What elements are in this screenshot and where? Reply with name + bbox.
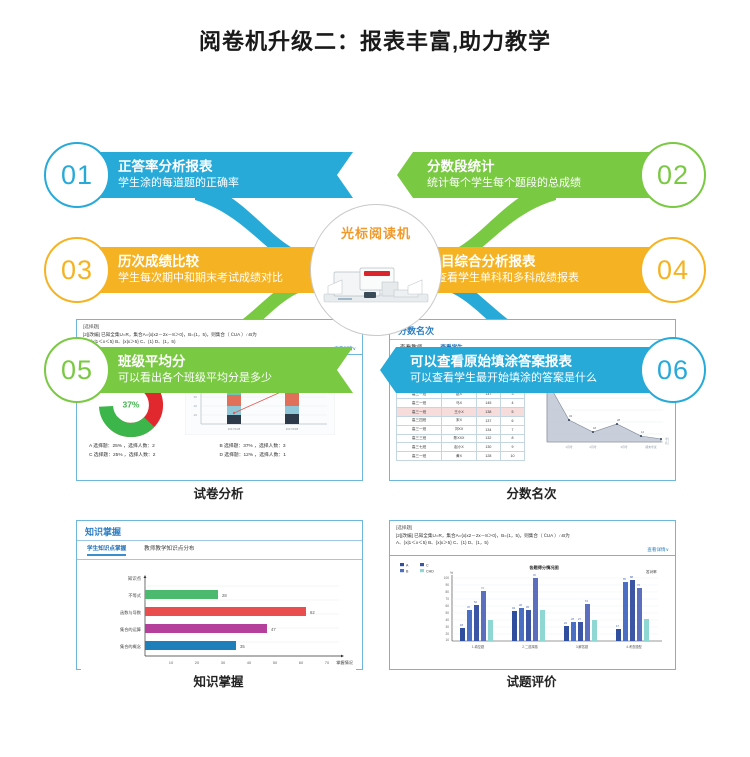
- svg-text:28: 28: [222, 593, 227, 598]
- svg-text:17: 17: [616, 624, 619, 628]
- svg-text:2月考: 2月考: [589, 445, 596, 449]
- svg-text:名次: 名次: [665, 441, 669, 445]
- table-cell: 8: [500, 434, 524, 443]
- table-cell: 130: [476, 443, 500, 452]
- option-stat-a: A 选择题：25% ，选择人数：2: [89, 443, 220, 452]
- chart-legend: A B C CHD: [400, 563, 434, 573]
- table-cell: 9: [500, 443, 524, 452]
- table-cell: 赵小X: [442, 443, 477, 452]
- panel-title-score-rank: 分数名次: [390, 320, 675, 340]
- svg-text:4.考查题型: 4.考查题型: [626, 644, 642, 649]
- question-box-2: [选择题] [2][改编] 已知全集U=R，集合A={x|x2－2x－8＞0}，…: [390, 521, 675, 556]
- svg-text:20: 20: [194, 413, 198, 417]
- table-cell: 高三一班: [397, 408, 442, 417]
- svg-text:18: 18: [460, 623, 463, 627]
- shot-item-eval[interactable]: [选择题] [2][改编] 已知全集U=R，集合A={x|x2－2x－8＞0}，…: [389, 520, 676, 670]
- table-cell: 137: [476, 416, 500, 425]
- table-cell: 132: [476, 434, 500, 443]
- table-cell: 马X: [442, 399, 477, 408]
- svg-text:1月考: 1月考: [565, 445, 572, 449]
- feature-number-03: 03: [44, 237, 110, 303]
- table-cell: 6: [500, 416, 524, 425]
- table-row[interactable]: 高三一班黄X12810: [397, 452, 525, 461]
- feature-sub-02: 统计每个学生每个题段的总成绩: [427, 176, 581, 190]
- feature-number-02: 02: [640, 142, 706, 208]
- shot-exam-analysis[interactable]: [选择题] [2][改编] 已知全集U=R，集合A={x|x2－2x－8＞0}，…: [76, 319, 363, 481]
- feature-sub-03: 学生每次期中和期末考试成绩对比: [118, 271, 336, 285]
- shot-knowledge[interactable]: 知识掌握 学生知识点掌握 教师教学知识点分布 知识点 28: [76, 520, 363, 670]
- table-cell: 高三三班: [397, 434, 442, 443]
- table-cell: 128: [476, 452, 500, 461]
- svg-text:C: C: [426, 564, 429, 568]
- svg-text:60: 60: [299, 660, 304, 665]
- table-cell: 刘XX: [442, 425, 477, 434]
- feature-diagram: 01 正答率分析报表 学生涂的每道题的正确率 02 分数段统计 统计每个学生每个…: [0, 56, 750, 331]
- question-line-2: A、{x|1＜x＜5} B、{x|x＞5} C、(1) D、(1，5): [83, 338, 356, 345]
- svg-text:期末考试: 期末考试: [645, 445, 656, 449]
- option-stat-d: D 选择题：12% ，选择人数：1: [220, 452, 351, 461]
- tab-student-knowledge[interactable]: 学生知识点掌握: [87, 544, 126, 556]
- feature-item-06[interactable]: 06 可以查看原始填涂答案报表 可以查看学生最开始填涂的答案是什么: [380, 339, 706, 401]
- option-stat-c: C 选择题：25% ，选择人数：2: [89, 452, 220, 461]
- table-cell: 10: [500, 452, 524, 461]
- donut-center-label: 37%: [123, 399, 140, 409]
- svg-text:100: 100: [444, 576, 450, 580]
- svg-text:40: 40: [194, 404, 198, 408]
- svg-text:函数与导数: 函数与导数: [120, 609, 142, 616]
- feature-number-05: 05: [44, 337, 110, 403]
- svg-text:72: 72: [481, 586, 484, 590]
- option-stat-b: B 选择题：37% ，选择人数：3: [220, 443, 351, 452]
- table-cell: 145: [476, 399, 500, 408]
- item-eval-bar-chart: A B C CHD 各题得分情况图 答对率 %: [390, 556, 675, 663]
- svg-text:60: 60: [194, 395, 198, 399]
- table-row[interactable]: 高三一班马X1454: [397, 399, 525, 408]
- feature-banner-01: 正答率分析报表 学生涂的每道题的正确率: [100, 152, 353, 198]
- option-stats: A 选择题：25% ，选择人数：2 B 选择题：37% ，选择人数：3 C 选择…: [77, 440, 362, 460]
- question-line-2-b: A、{x|1＜x＜5} B、{x|x＞5} C、(1) D、(1，5): [396, 539, 669, 546]
- svg-text:30: 30: [221, 660, 226, 665]
- svg-text:43: 43: [512, 606, 515, 610]
- question-line-1-b: [2][改编] 已知全集U=R，集合A={x|x2－2x－8＞0}，B=(1，5…: [396, 532, 669, 539]
- svg-text:85: 85: [623, 577, 626, 581]
- knowledge-bar-chart: 知识点 28 62 47 35 不: [77, 560, 362, 681]
- svg-text:88: 88: [630, 575, 633, 579]
- table-cell: 高三一班: [397, 399, 442, 408]
- center-label: 光标阅读机: [341, 223, 411, 242]
- knowledge-tabs: 学生知识点掌握 教师教学知识点分布: [77, 541, 362, 560]
- svg-text:47: 47: [271, 627, 276, 632]
- caption-score-rank: 分数名次: [389, 483, 674, 502]
- svg-text:%: %: [450, 571, 453, 575]
- svg-text:62: 62: [310, 610, 315, 615]
- svg-text:48: 48: [519, 603, 522, 607]
- svg-text:18: 18: [593, 426, 597, 430]
- svg-text:20: 20: [195, 660, 200, 665]
- feature-title-02: 分数段统计: [427, 159, 495, 176]
- scanner-machine-icon: [320, 256, 432, 308]
- knowledge-ylabel: 知识点: [128, 575, 142, 582]
- feature-banner-02: 分数段统计 统计每个学生每个题段的总成绩: [397, 152, 650, 198]
- svg-text:50: 50: [445, 611, 449, 615]
- table-row[interactable]: 高三一班王小X1385: [397, 408, 525, 417]
- svg-text:70: 70: [445, 597, 449, 601]
- svg-text:12: 12: [641, 430, 645, 434]
- svg-text:90: 90: [533, 573, 536, 577]
- table-cell: 陈XXX: [442, 434, 477, 443]
- svg-text:1.填空题: 1.填空题: [472, 644, 485, 649]
- table-cell: 高三一班: [397, 452, 442, 461]
- shot-score-rank[interactable]: 分数名次 查看教师 查看学生 班级 姓名 分数 名次 高三二班张XX1501高三…: [389, 319, 676, 481]
- svg-text:35: 35: [240, 644, 245, 649]
- svg-text:10: 10: [445, 638, 449, 642]
- svg-text:45: 45: [467, 605, 470, 609]
- svg-text:90: 90: [445, 583, 449, 587]
- feature-title-03: 历次成绩比较: [118, 254, 336, 271]
- svg-text:34: 34: [569, 414, 573, 418]
- caption-exam-analysis: 试卷分析: [76, 483, 361, 502]
- svg-text:53: 53: [585, 599, 588, 603]
- table-row[interactable]: 高三一班刘XX1347: [397, 425, 525, 434]
- caption-item-eval: 试题评价: [389, 671, 674, 690]
- table-row[interactable]: 高三四班宋X1376: [397, 416, 525, 425]
- page-title: 阅卷机升级二：报表丰富,助力教学: [0, 0, 750, 56]
- svg-text:52: 52: [474, 600, 477, 604]
- feature-banner-06: 可以查看原始填涂答案报表 可以查看学生最开始填涂的答案是什么: [380, 347, 650, 393]
- feature-banner-05: 班级平均分 可以看出各个班级平均分是多少: [100, 347, 353, 393]
- table-cell: 高三四班: [397, 416, 442, 425]
- view-detail-link-2[interactable]: 查看详情∨: [396, 546, 669, 553]
- table-cell: 5: [500, 408, 524, 417]
- svg-text:集合的运算: 集合的运算: [120, 626, 141, 633]
- svg-text:2017/03/8: 2017/03/8: [286, 427, 299, 431]
- svg-text:集合的概念: 集合的概念: [120, 643, 142, 650]
- svg-text:CHD: CHD: [426, 570, 434, 574]
- feature-sub-01: 学生涂的每道题的正确率: [118, 176, 323, 190]
- svg-text:28: 28: [617, 418, 621, 422]
- svg-text:2017/01/8: 2017/01/8: [228, 427, 241, 431]
- item-eval-title: 各题得分情况图: [528, 564, 558, 571]
- svg-text:27: 27: [578, 617, 581, 621]
- feature-item-05[interactable]: 05 班级平均分 可以看出各个班级平均分是多少: [44, 339, 353, 401]
- question-line-1: [2][改编] 已知全集U=R，集合A={x|x2－2x－8＞0}，B=(1，5…: [83, 331, 356, 338]
- feature-title-01: 正答率分析报表: [118, 159, 323, 176]
- svg-text:70: 70: [325, 660, 330, 665]
- svg-text:3.解答题: 3.解答题: [576, 644, 589, 649]
- svg-text:A: A: [406, 564, 409, 568]
- table-cell: 4: [500, 399, 524, 408]
- feature-title-06: 可以查看原始填涂答案报表: [410, 354, 572, 371]
- question-tag-2: [选择题]: [396, 525, 669, 532]
- item-eval-note: 答对率: [646, 569, 657, 574]
- svg-text:40: 40: [247, 660, 252, 665]
- svg-text:60: 60: [445, 604, 449, 608]
- table-cell: 7: [500, 425, 524, 434]
- svg-text:80: 80: [445, 590, 449, 594]
- table-cell: 宋X: [442, 416, 477, 425]
- table-cell: 黄X: [442, 452, 477, 461]
- svg-text:45: 45: [526, 605, 529, 609]
- svg-text:30: 30: [445, 625, 449, 629]
- svg-text:50: 50: [273, 660, 278, 665]
- feature-number-01: 01: [44, 142, 110, 208]
- feature-number-04: 04: [640, 237, 706, 303]
- svg-text:28: 28: [571, 617, 574, 621]
- table-cell: 138: [476, 408, 500, 417]
- svg-text:3月考: 3月考: [620, 445, 627, 449]
- center-node: 光标阅读机: [310, 204, 442, 336]
- table-cell: 134: [476, 425, 500, 434]
- svg-text:22: 22: [564, 621, 567, 625]
- feature-item-01[interactable]: 01 正答率分析报表 学生涂的每道题的正确率: [44, 144, 353, 206]
- table-cell: 高三一班: [397, 425, 442, 434]
- question-tag: [选择题]: [83, 324, 356, 331]
- table-cell: 高三七班: [397, 443, 442, 452]
- svg-text:20: 20: [445, 632, 449, 636]
- svg-text:10: 10: [169, 660, 174, 665]
- caption-knowledge: 知识掌握: [76, 671, 361, 690]
- panel-title-knowledge: 知识掌握: [77, 521, 362, 541]
- svg-text:40: 40: [445, 618, 449, 622]
- table-cell: 王小X: [442, 408, 477, 417]
- feature-sub-05: 可以看出各个班级平均分是多少: [118, 371, 323, 385]
- feature-item-02[interactable]: 02 分数段统计 统计每个学生每个题段的总成绩: [397, 144, 706, 206]
- feature-number-06: 06: [640, 337, 706, 403]
- svg-text:2.二选择题: 2.二选择题: [522, 644, 538, 649]
- table-row[interactable]: 高三七班赵小X1309: [397, 443, 525, 452]
- knowledge-xlabel: 掌握情况: [336, 659, 354, 666]
- table-row[interactable]: 高三三班陈XXX1328: [397, 434, 525, 443]
- feature-sub-06: 可以查看学生最开始填涂的答案是什么: [410, 371, 597, 385]
- svg-text:不等式: 不等式: [128, 592, 141, 599]
- feature-title-05: 班级平均分: [118, 354, 323, 371]
- tab-teacher-knowledge[interactable]: 教师教学知识点分布: [144, 544, 194, 556]
- svg-text:B: B: [406, 570, 409, 574]
